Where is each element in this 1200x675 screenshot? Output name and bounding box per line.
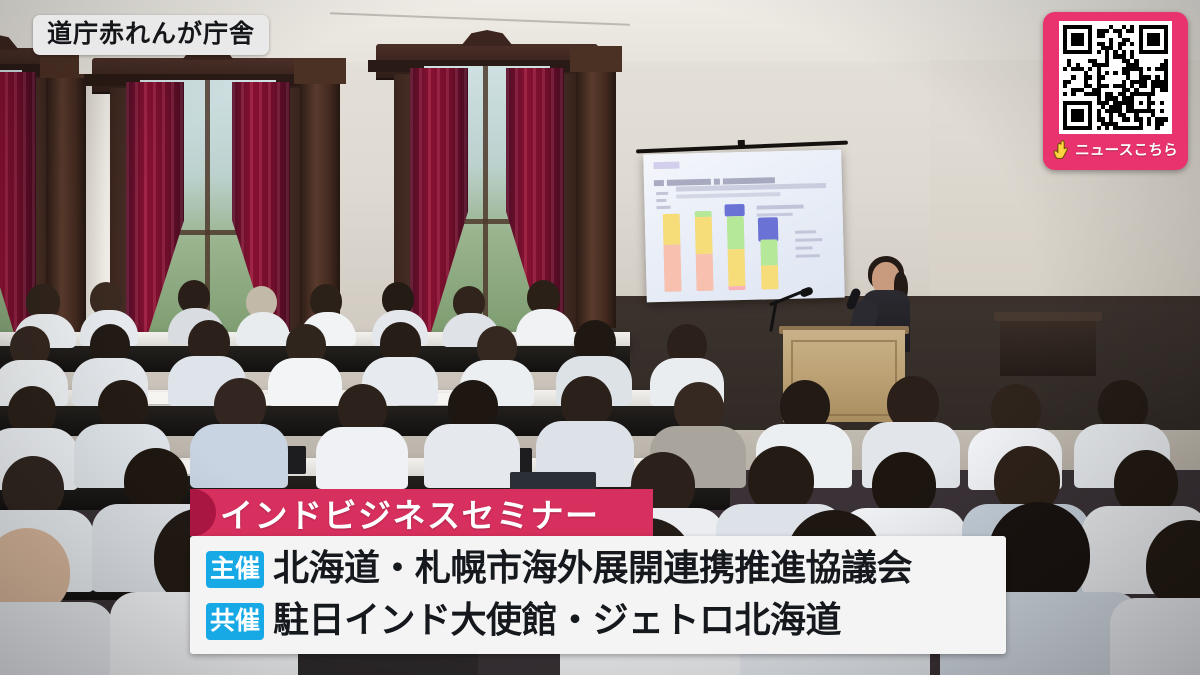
slide-tab-chip [653, 162, 679, 170]
seminar-title-bar: インドビジネスセミナー [190, 489, 653, 536]
organizer-row-primary: 主催 北海道・札幌市海外展開連携推進協議会 [190, 543, 1006, 595]
slide-heading [654, 170, 828, 182]
organizer-row-secondary: 共催 駐日インド大使館・ジェトロ北海道 [190, 595, 1006, 647]
organizer-name-secondary: 駐日インド大使館・ジェトロ北海道 [273, 603, 841, 639]
attendee [316, 384, 408, 486]
attendee [1110, 520, 1200, 675]
qr-cta-label: ニュースこちら [1075, 139, 1178, 160]
slide-legend [795, 230, 826, 263]
organizer-badge-primary: 主催 [206, 551, 264, 588]
slide-subtext-2 [676, 192, 780, 199]
chart-bar-4-cap [758, 217, 779, 241]
attendee [424, 380, 520, 486]
organizer-badge-secondary: 共催 [206, 603, 264, 640]
chart-bar-3-cap [724, 204, 744, 216]
slide-axis-label-2 [656, 199, 666, 202]
qr-code-image[interactable] [1059, 21, 1172, 134]
attendee [0, 528, 114, 675]
broadcast-screenshot: 道庁赤れんが庁舎 ニュースこちら インドビジネスセミナー 主催 北海道・札幌市海… [0, 0, 1200, 675]
qr-code-badge[interactable]: ニュースこちら [1043, 12, 1188, 170]
slide-axis-label-1 [656, 192, 668, 195]
pointing-hand-icon [1053, 140, 1072, 160]
qr-cta[interactable]: ニュースこちら [1053, 139, 1178, 160]
organizer-name-primary: 北海道・札幌市海外展開連携推進協議会 [273, 551, 912, 587]
presentation-slide [651, 160, 834, 294]
organizer-info-panel: 主催 北海道・札幌市海外展開連携推進協議会 共催 駐日インド大使館・ジェトロ北海… [190, 536, 1006, 654]
title-accent-shape [190, 489, 216, 536]
seminar-title: インドビジネスセミナー [220, 489, 600, 537]
slide-bar-chart [658, 200, 826, 292]
location-label: 道庁赤れんが庁舎 [33, 15, 269, 55]
